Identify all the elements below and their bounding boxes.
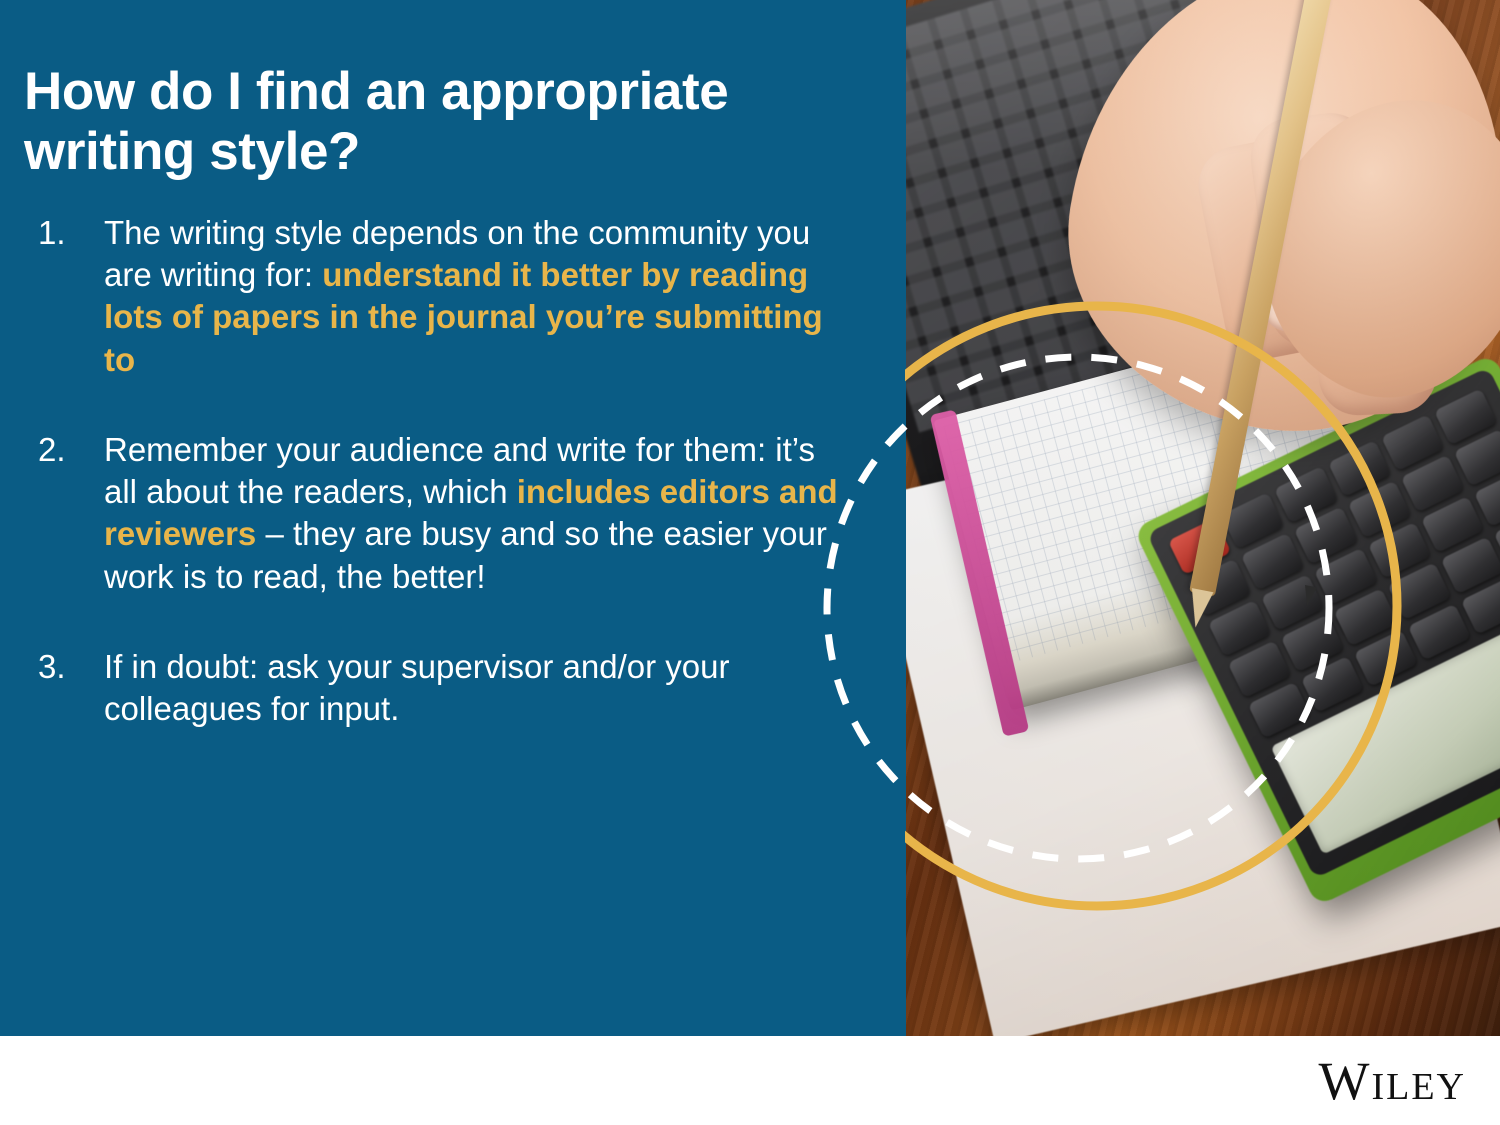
list-item-number: 2. — [38, 429, 104, 471]
list-item-number: 1. — [38, 212, 104, 254]
finger — [1309, 181, 1439, 417]
list-item-text: The writing style depends on the communi… — [104, 212, 838, 381]
fingernail — [1323, 286, 1391, 369]
list-item-number: 3. — [38, 646, 104, 688]
page-title: How do I find an appropriate writing sty… — [24, 62, 864, 184]
text-segment: If in doubt: ask your supervisor and/or … — [104, 648, 730, 727]
list-item-text: If in doubt: ask your supervisor and/or … — [104, 646, 838, 730]
list-item: 2. Remember your audience and write for … — [38, 429, 838, 598]
list-item: 1. The writing style depends on the comm… — [38, 212, 838, 381]
slide-canvas: How do I find an appropriate writing sty… — [0, 0, 1500, 1125]
list-item-text: Remember your audience and write for the… — [104, 429, 838, 598]
footer-bar: Wiley — [0, 1036, 1500, 1125]
wiley-logo: Wiley — [1319, 1054, 1467, 1108]
list-item: 3. If in doubt: ask your supervisor and/… — [38, 646, 838, 730]
content-panel: How do I find an appropriate writing sty… — [0, 0, 906, 1036]
desk-photo — [905, 0, 1500, 1036]
numbered-bullet-list: 1. The writing style depends on the comm… — [38, 212, 838, 778]
